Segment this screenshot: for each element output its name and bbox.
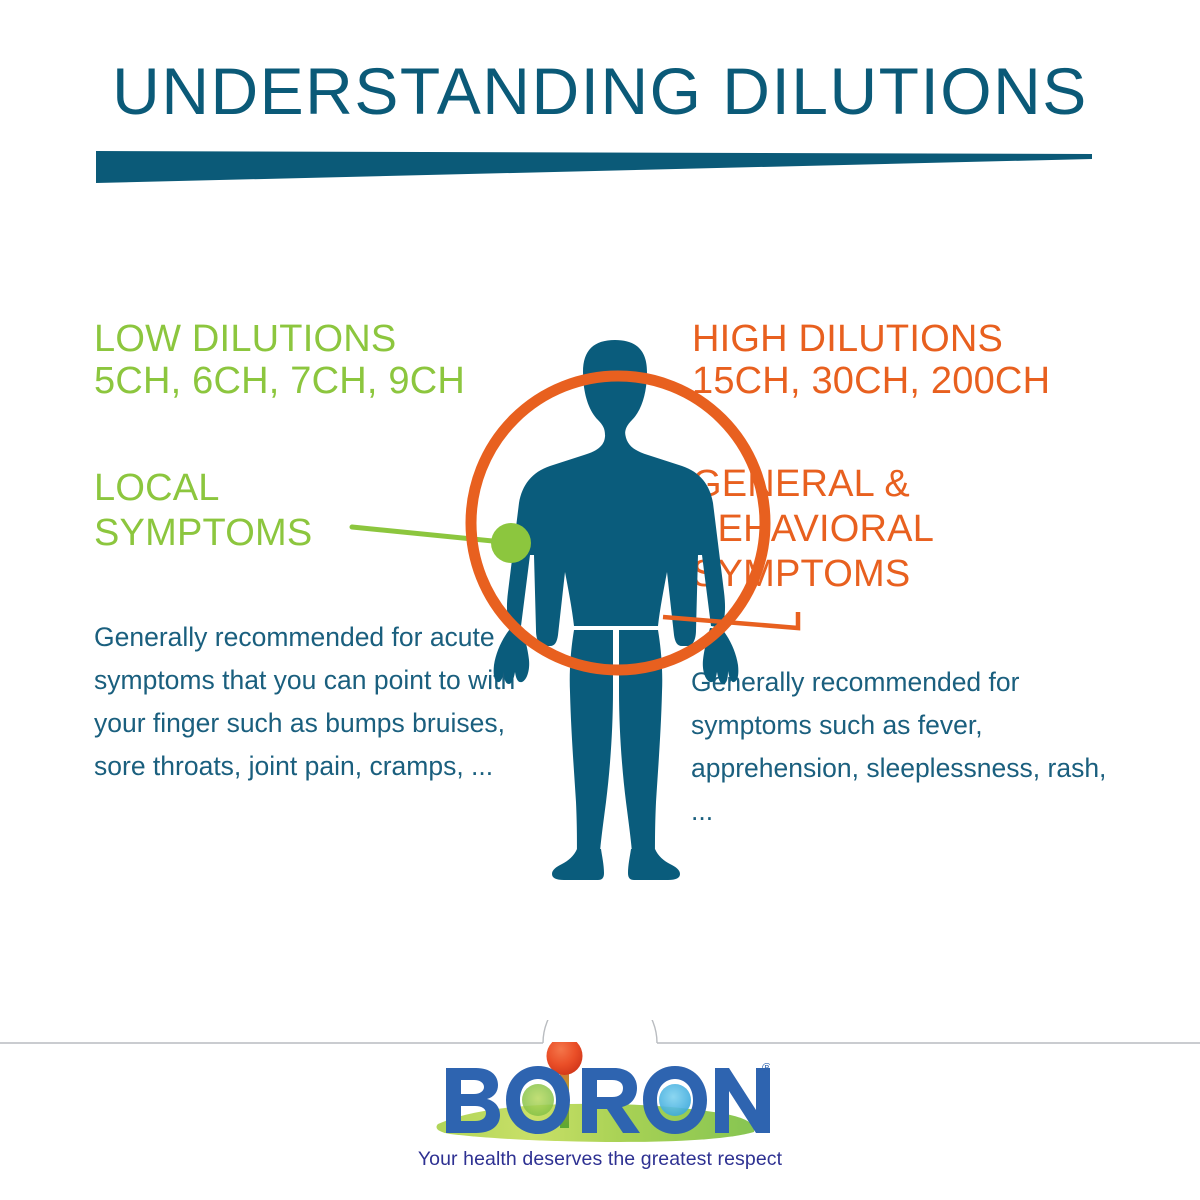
human-body-silhouette xyxy=(494,340,739,880)
title-rule-wedge xyxy=(96,151,1092,183)
title-block: UNDERSTANDING DILUTIONS xyxy=(0,54,1200,128)
footer-divider-arc xyxy=(543,1020,657,1043)
page-title: UNDERSTANDING DILUTIONS xyxy=(0,54,1200,128)
green-local-symptom-dot xyxy=(491,523,531,563)
logo-trademark: ® xyxy=(762,1060,770,1075)
logo-o-cyan-fill xyxy=(659,1084,691,1116)
footer: ® xyxy=(0,1020,1200,1200)
footer-tagline: Your health deserves the greatest respec… xyxy=(0,1148,1200,1171)
green-leader-line xyxy=(352,527,513,543)
infographic-page: UNDERSTANDING DILUTIONS LOW DILUTIONS 5C… xyxy=(0,0,1200,1200)
logo-o-green-fill xyxy=(522,1084,554,1116)
body-diagram xyxy=(330,340,870,880)
title-underline-rule xyxy=(96,151,1092,185)
boiron-logo[interactable]: ® xyxy=(430,1042,770,1152)
